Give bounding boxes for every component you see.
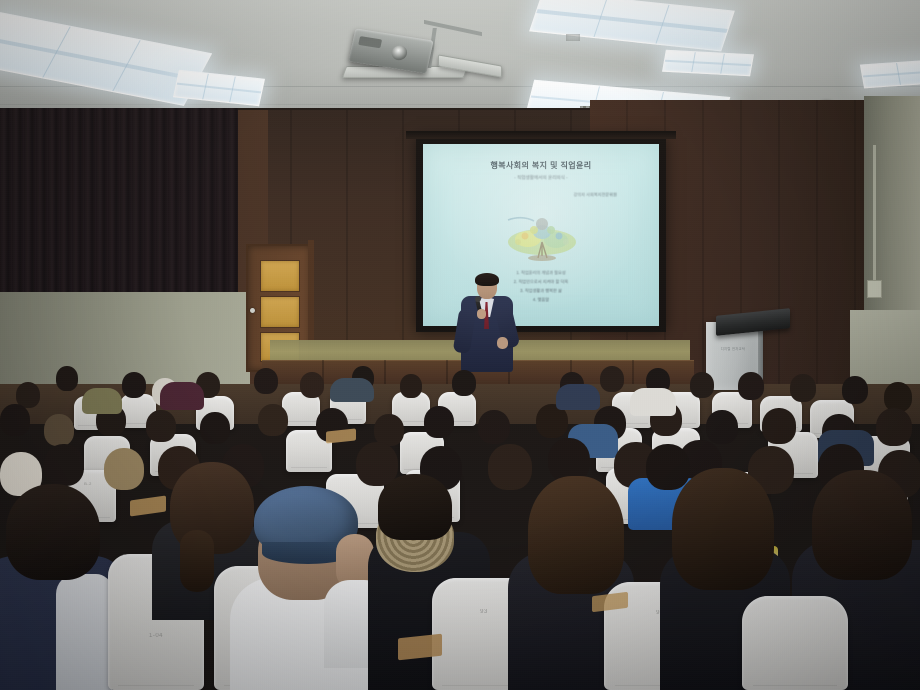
audience-head bbox=[44, 414, 74, 446]
audience: B-2 1-04 bbox=[0, 0, 920, 690]
audience-head bbox=[452, 370, 476, 396]
audience-head bbox=[56, 366, 78, 391]
audience-head bbox=[790, 374, 816, 402]
notebook[interactable] bbox=[398, 634, 442, 661]
audience-head bbox=[478, 410, 510, 444]
audience-torso bbox=[630, 388, 676, 416]
audience-head bbox=[104, 448, 144, 490]
audience-head bbox=[400, 374, 422, 398]
audience-head bbox=[122, 372, 146, 398]
audience-shirt bbox=[56, 574, 112, 690]
audience-head bbox=[812, 470, 912, 580]
auditorium-chair[interactable] bbox=[742, 596, 848, 690]
audience-head bbox=[672, 468, 774, 590]
audience-head bbox=[762, 408, 796, 444]
audience-head bbox=[646, 444, 690, 490]
lecture-hall-photo: 행복사회의 복지 및 직업윤리 - 직업생활에서의 윤리의식 - 강의자 사회복… bbox=[0, 0, 920, 690]
audience-head bbox=[876, 408, 912, 446]
audience-head bbox=[6, 484, 100, 580]
notebook[interactable] bbox=[130, 495, 166, 516]
audience-head bbox=[44, 444, 84, 486]
notebook[interactable] bbox=[326, 428, 356, 443]
audience-head bbox=[378, 474, 452, 540]
audience-head bbox=[424, 406, 454, 438]
audience-head bbox=[842, 376, 868, 404]
audience-torso bbox=[330, 378, 374, 402]
audience-head bbox=[528, 476, 624, 594]
audience-head bbox=[146, 410, 176, 442]
audience-torso bbox=[82, 388, 122, 414]
audience-head bbox=[706, 410, 738, 444]
audience-head bbox=[200, 412, 230, 444]
audience-torso bbox=[556, 384, 600, 410]
audience-head bbox=[300, 372, 324, 398]
audience-head bbox=[738, 372, 764, 400]
seat-number: 1-04 bbox=[108, 633, 204, 639]
audience-torso bbox=[160, 382, 204, 410]
audience-head bbox=[258, 404, 288, 436]
audience-head bbox=[254, 368, 278, 394]
audience-head bbox=[600, 366, 624, 392]
audience-head bbox=[690, 372, 714, 398]
audience-head bbox=[488, 444, 532, 490]
audience-head bbox=[0, 404, 30, 436]
audience-ponytail bbox=[180, 530, 214, 592]
